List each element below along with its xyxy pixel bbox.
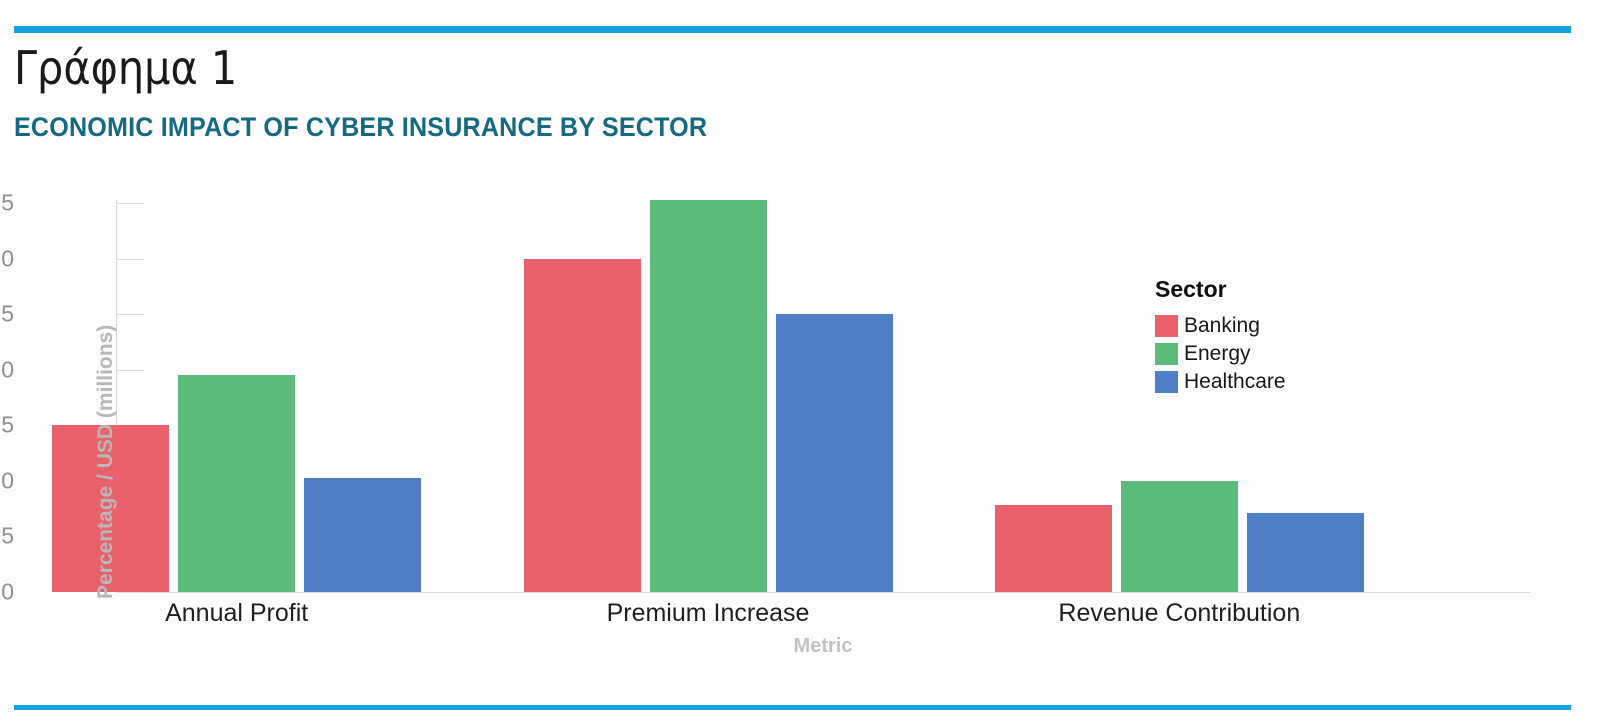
y-axis-tick-label: 20: [0, 356, 14, 383]
x-axis-label: Metric: [116, 635, 1530, 658]
legend-item-banking[interactable]: Banking: [1155, 312, 1286, 340]
y-axis-tick-label: 10: [0, 467, 14, 494]
legend-label: Banking: [1184, 314, 1260, 338]
legend: Sector BankingEnergyHealthcare: [1155, 276, 1286, 396]
legend-items: BankingEnergyHealthcare: [1155, 312, 1286, 396]
legend-label: Healthcare: [1184, 370, 1286, 394]
y-axis-tick-label: 35: [0, 190, 14, 217]
legend-swatch-energy: [1155, 343, 1178, 365]
y-axis-label: Percentage / USD (millions): [94, 325, 118, 599]
bar-energy-revenue-contribution[interactable]: [1121, 481, 1238, 592]
x-axis-tick-label: Revenue Contribution: [1058, 599, 1300, 628]
bar-healthcare-premium-increase[interactable]: [776, 314, 893, 592]
gridline: [116, 259, 144, 260]
y-axis-tick-label: 5: [0, 523, 14, 550]
page-title: Γράφημα 1: [14, 44, 237, 92]
legend-item-energy[interactable]: Energy: [1155, 340, 1286, 368]
bar-energy-annual-profit[interactable]: [178, 375, 295, 592]
x-axis-baseline: [116, 592, 1530, 593]
plot-area: 05101520253035 Annual ProfitPremium Incr…: [116, 203, 1530, 592]
legend-item-healthcare[interactable]: Healthcare: [1155, 368, 1286, 396]
x-axis-tick-label: Premium Increase: [607, 599, 810, 628]
legend-title: Sector: [1155, 276, 1286, 303]
bar-banking-premium-increase[interactable]: [524, 259, 641, 592]
y-axis-tick-label: 0: [0, 579, 14, 606]
y-axis-tick-label: 25: [0, 301, 14, 328]
y-axis-tick-label: 30: [0, 245, 14, 272]
chart-page: Γράφημα 1 ECONOMIC IMPACT OF CYBER INSUR…: [0, 0, 1600, 723]
gridline: [116, 314, 144, 315]
bar-healthcare-annual-profit[interactable]: [304, 478, 421, 592]
bar-energy-premium-increase[interactable]: [650, 200, 767, 592]
bar-banking-revenue-contribution[interactable]: [995, 505, 1112, 592]
accent-bar-top: [14, 26, 1571, 33]
chart-subtitle: ECONOMIC IMPACT OF CYBER INSURANCE BY SE…: [14, 113, 707, 143]
y-axis-tick-label: 15: [0, 412, 14, 439]
legend-label: Energy: [1184, 342, 1251, 366]
gridline: [116, 370, 144, 371]
gridline: [116, 592, 144, 593]
bar-healthcare-revenue-contribution[interactable]: [1247, 513, 1364, 592]
x-axis-tick-label: Annual Profit: [165, 599, 308, 628]
legend-swatch-healthcare: [1155, 371, 1178, 393]
accent-bar-bottom: [14, 705, 1571, 710]
gridline: [116, 203, 144, 204]
legend-swatch-banking: [1155, 315, 1178, 337]
